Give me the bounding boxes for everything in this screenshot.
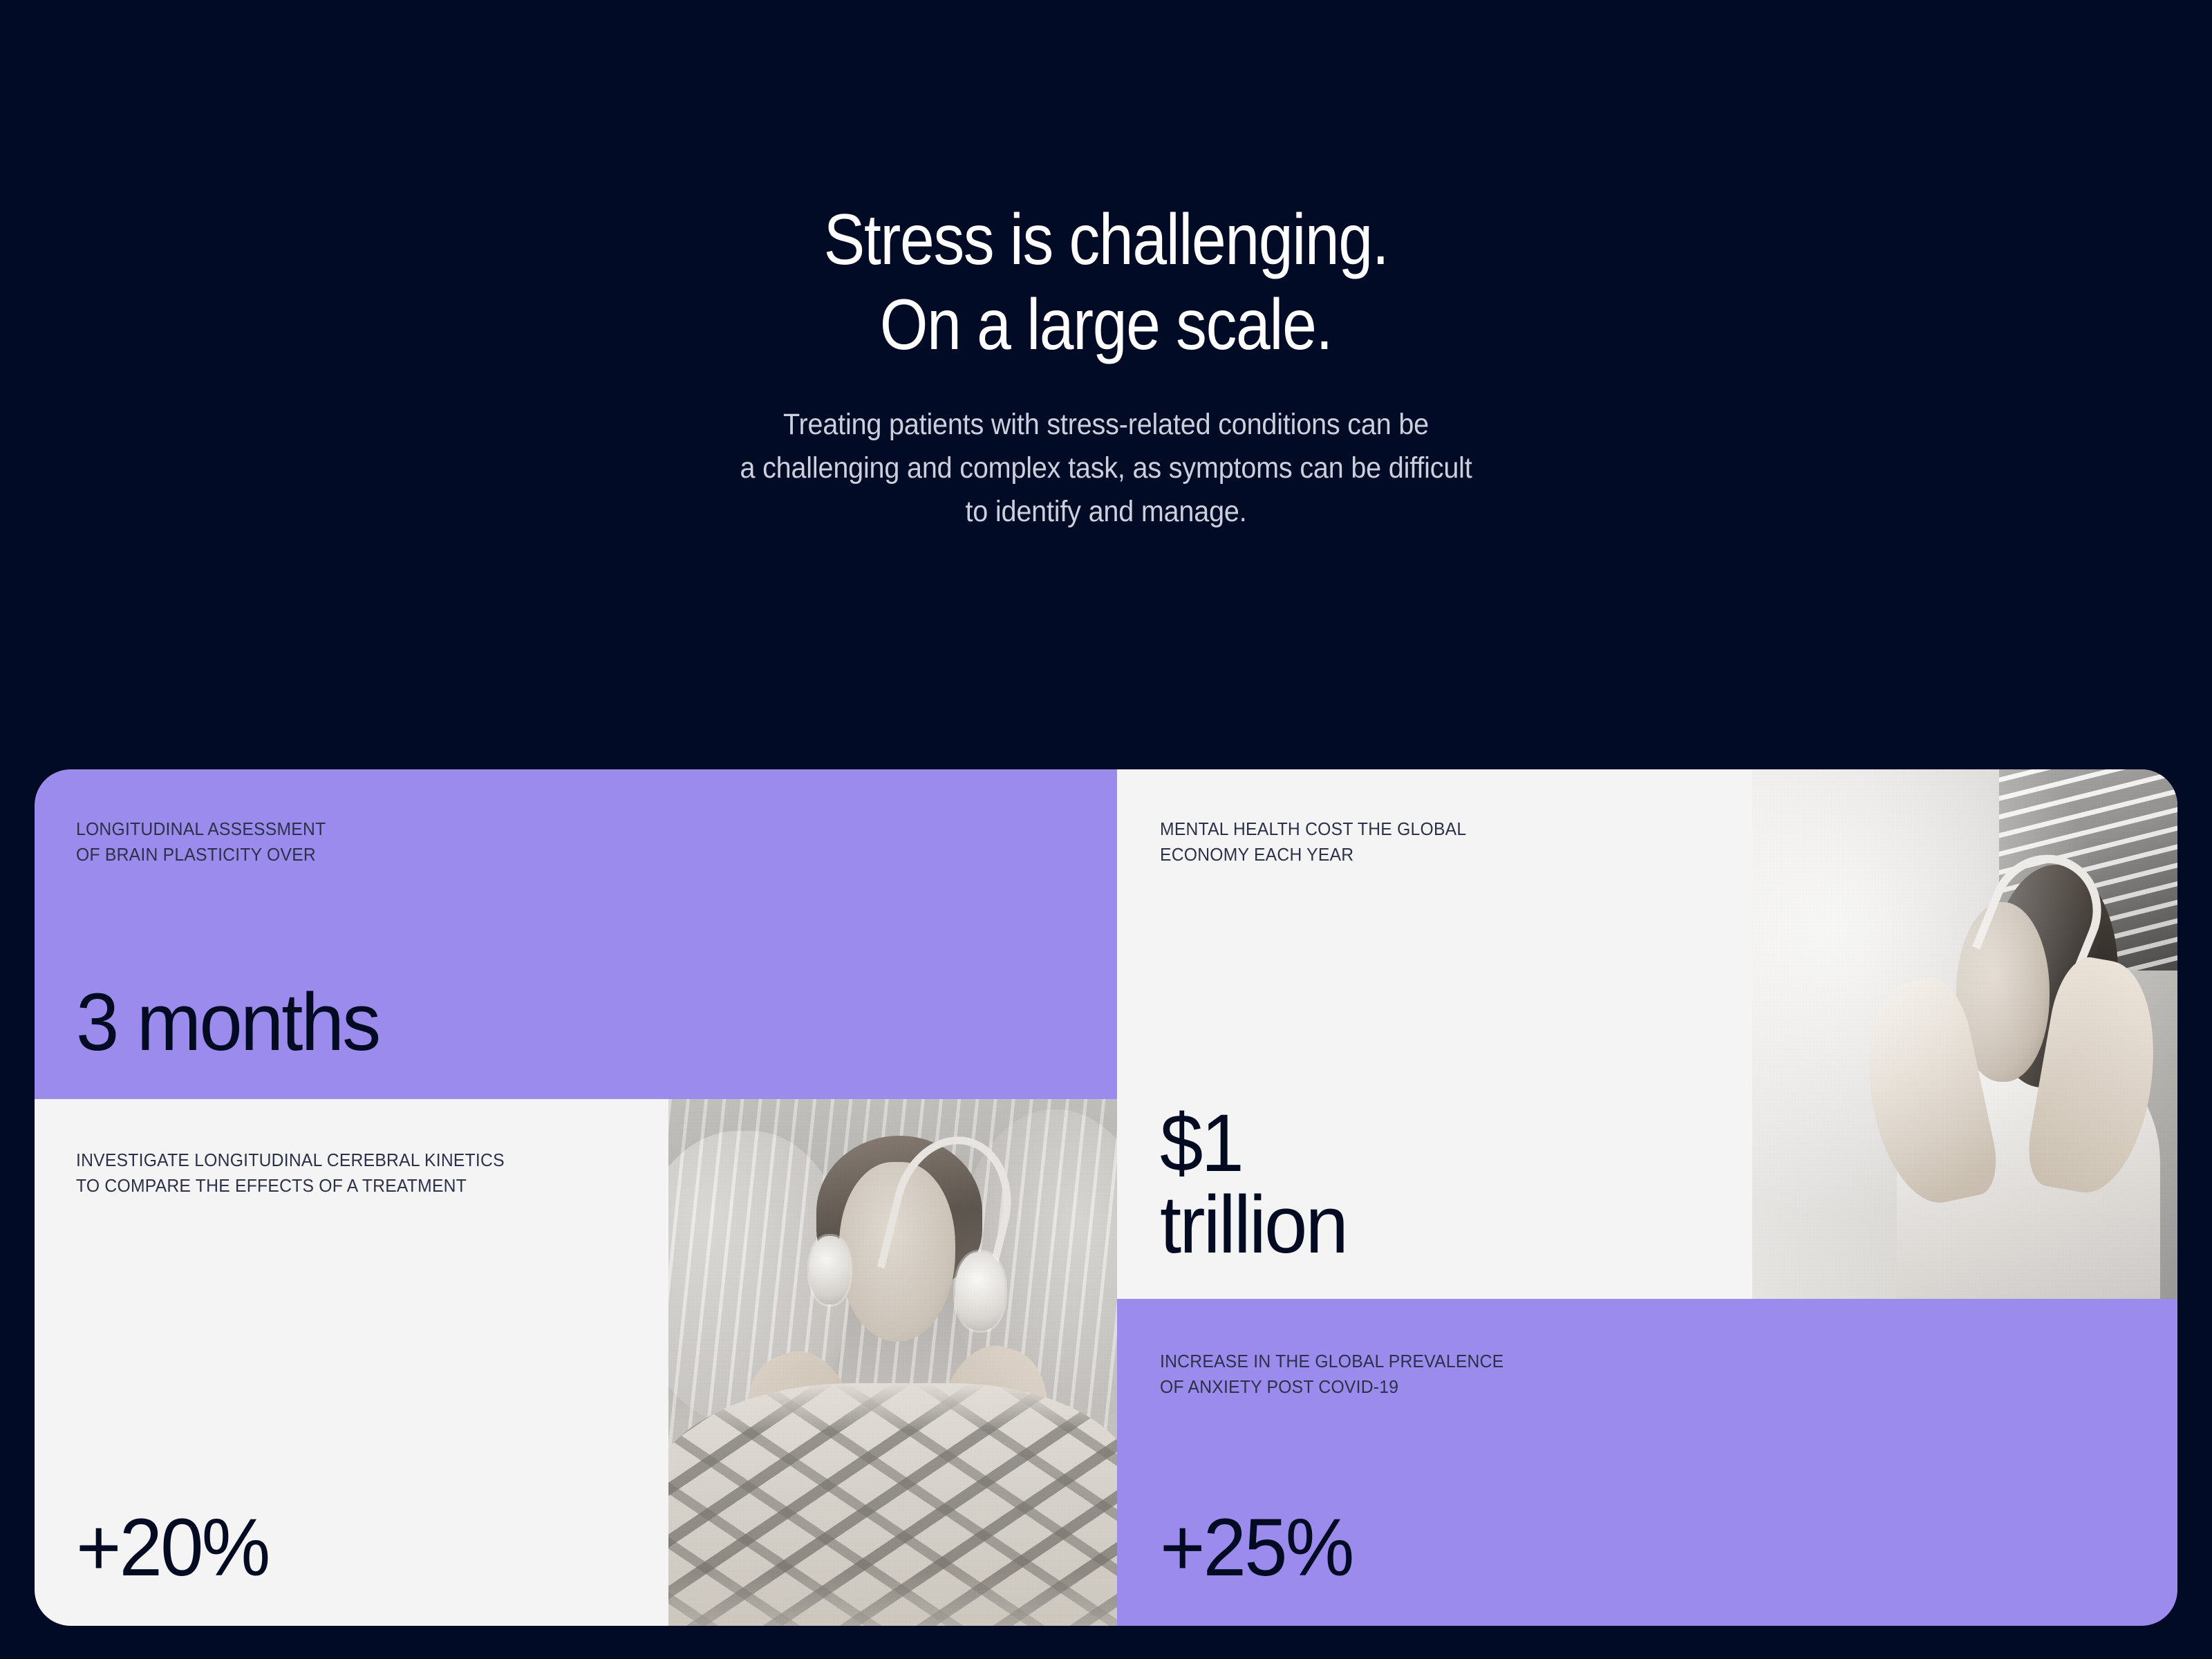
stat-value: +20% bbox=[76, 1507, 268, 1588]
stats-column-left: LONGITUDINAL ASSESSMENT OF BRAIN PLASTIC… bbox=[35, 769, 1117, 1626]
stat-eyebrow: MENTAL HEALTH COST THE GLOBAL ECONOMY EA… bbox=[1160, 816, 1723, 868]
stat-value: 3 months bbox=[76, 982, 379, 1063]
photo-woman-putting-on-headphones bbox=[1752, 769, 2177, 1299]
stat-card-anxiety-prevalence[interactable]: INCREASE IN THE GLOBAL PREVALENCE OF ANX… bbox=[1117, 1299, 2177, 1626]
stat-card-cerebral-kinetics-row: INVESTIGATE LONGITUDINAL CEREBRAL KINETI… bbox=[35, 1099, 1117, 1626]
hero-section: Stress is challenging. On a large scale.… bbox=[0, 0, 2212, 534]
stat-card-mental-health-cost-row: MENTAL HEALTH COST THE GLOBAL ECONOMY EA… bbox=[1117, 769, 2177, 1299]
stats-column-right: MENTAL HEALTH COST THE GLOBAL ECONOMY EA… bbox=[1117, 769, 2177, 1626]
stat-eyebrow: LONGITUDINAL ASSESSMENT OF BRAIN PLASTIC… bbox=[76, 816, 1065, 868]
photo-woman-listening-headphones bbox=[668, 1099, 1117, 1626]
page-title: Stress is challenging. On a large scale. bbox=[155, 198, 2057, 367]
stat-card-mental-health-cost[interactable]: MENTAL HEALTH COST THE GLOBAL ECONOMY EA… bbox=[1117, 769, 1752, 1299]
stat-value: +25% bbox=[1160, 1507, 1352, 1588]
stat-card-cerebral-kinetics[interactable]: INVESTIGATE LONGITUDINAL CEREBRAL KINETI… bbox=[35, 1099, 668, 1626]
stat-card-brain-plasticity[interactable]: LONGITUDINAL ASSESSMENT OF BRAIN PLASTIC… bbox=[35, 769, 1117, 1099]
page-subtitle: Treating patients with stress-related co… bbox=[88, 403, 2124, 533]
stat-eyebrow: INCREASE IN THE GLOBAL PREVALENCE OF ANX… bbox=[1160, 1349, 2126, 1400]
stats-board: LONGITUDINAL ASSESSMENT OF BRAIN PLASTIC… bbox=[35, 769, 2177, 1626]
stat-eyebrow: INVESTIGATE LONGITUDINAL CEREBRAL KINETI… bbox=[76, 1147, 639, 1199]
stat-value: $1 trillion bbox=[1160, 1103, 1347, 1266]
